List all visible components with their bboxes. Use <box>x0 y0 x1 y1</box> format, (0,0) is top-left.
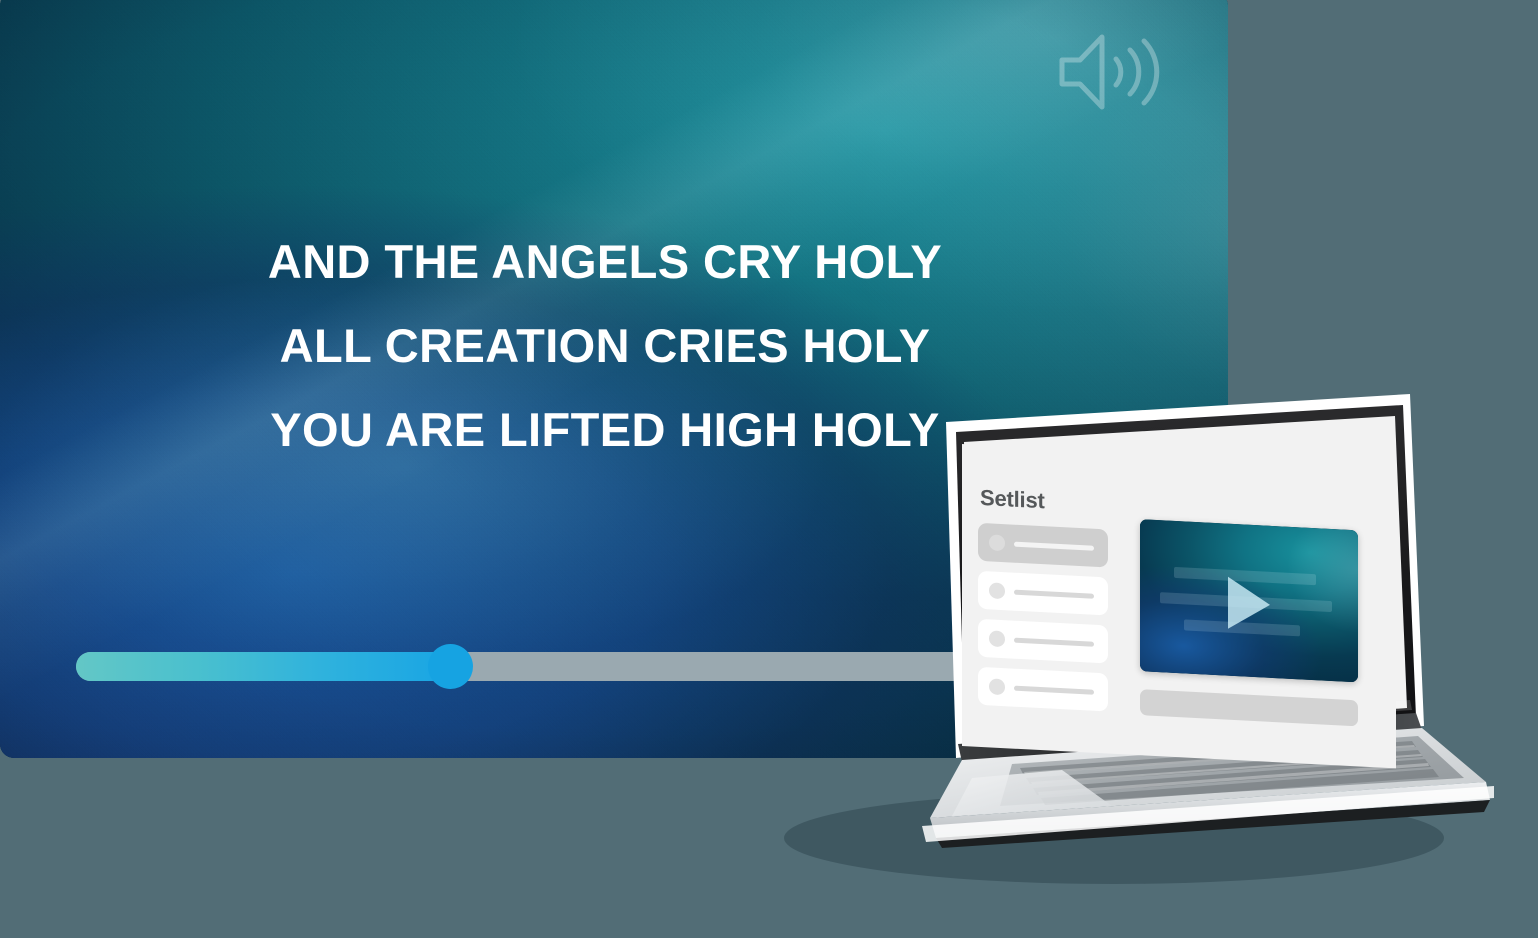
setlist-item-3[interactable] <box>978 619 1108 664</box>
laptop-mockup: Setlist <box>694 386 1494 896</box>
lyric-line-2: ALL CREATION CRIES HOLY <box>0 304 1210 388</box>
video-preview[interactable] <box>1140 519 1358 682</box>
setlist-item-dot <box>989 678 1005 695</box>
play-triangle-icon[interactable] <box>1228 577 1270 631</box>
stage: AND THE ANGELS CRY HOLY ALL CREATION CRI… <box>0 0 1538 938</box>
setlist-item-bar <box>1014 590 1094 599</box>
speaker-volume-icon[interactable] <box>1054 28 1166 116</box>
setlist-item-4[interactable] <box>978 667 1108 712</box>
setlist-item-2[interactable] <box>978 571 1108 616</box>
setlist-title: Setlist <box>980 485 1045 514</box>
laptop-screen-content: Setlist <box>962 444 1396 768</box>
lyric-line-1: AND THE ANGELS CRY HOLY <box>0 220 1210 304</box>
progress-thumb[interactable] <box>428 644 473 689</box>
setlist-item-bar <box>1014 638 1094 647</box>
setlist-item-bar <box>1014 542 1094 551</box>
setlist-item-dot <box>989 630 1005 647</box>
setlist-item-dot <box>989 582 1005 599</box>
setlist-item-bar <box>1014 686 1094 695</box>
setlist-item-1[interactable] <box>978 523 1108 568</box>
progress-fill <box>76 652 450 681</box>
setlist-item-dot <box>989 534 1005 551</box>
bottom-placeholder-bar <box>1140 689 1358 726</box>
